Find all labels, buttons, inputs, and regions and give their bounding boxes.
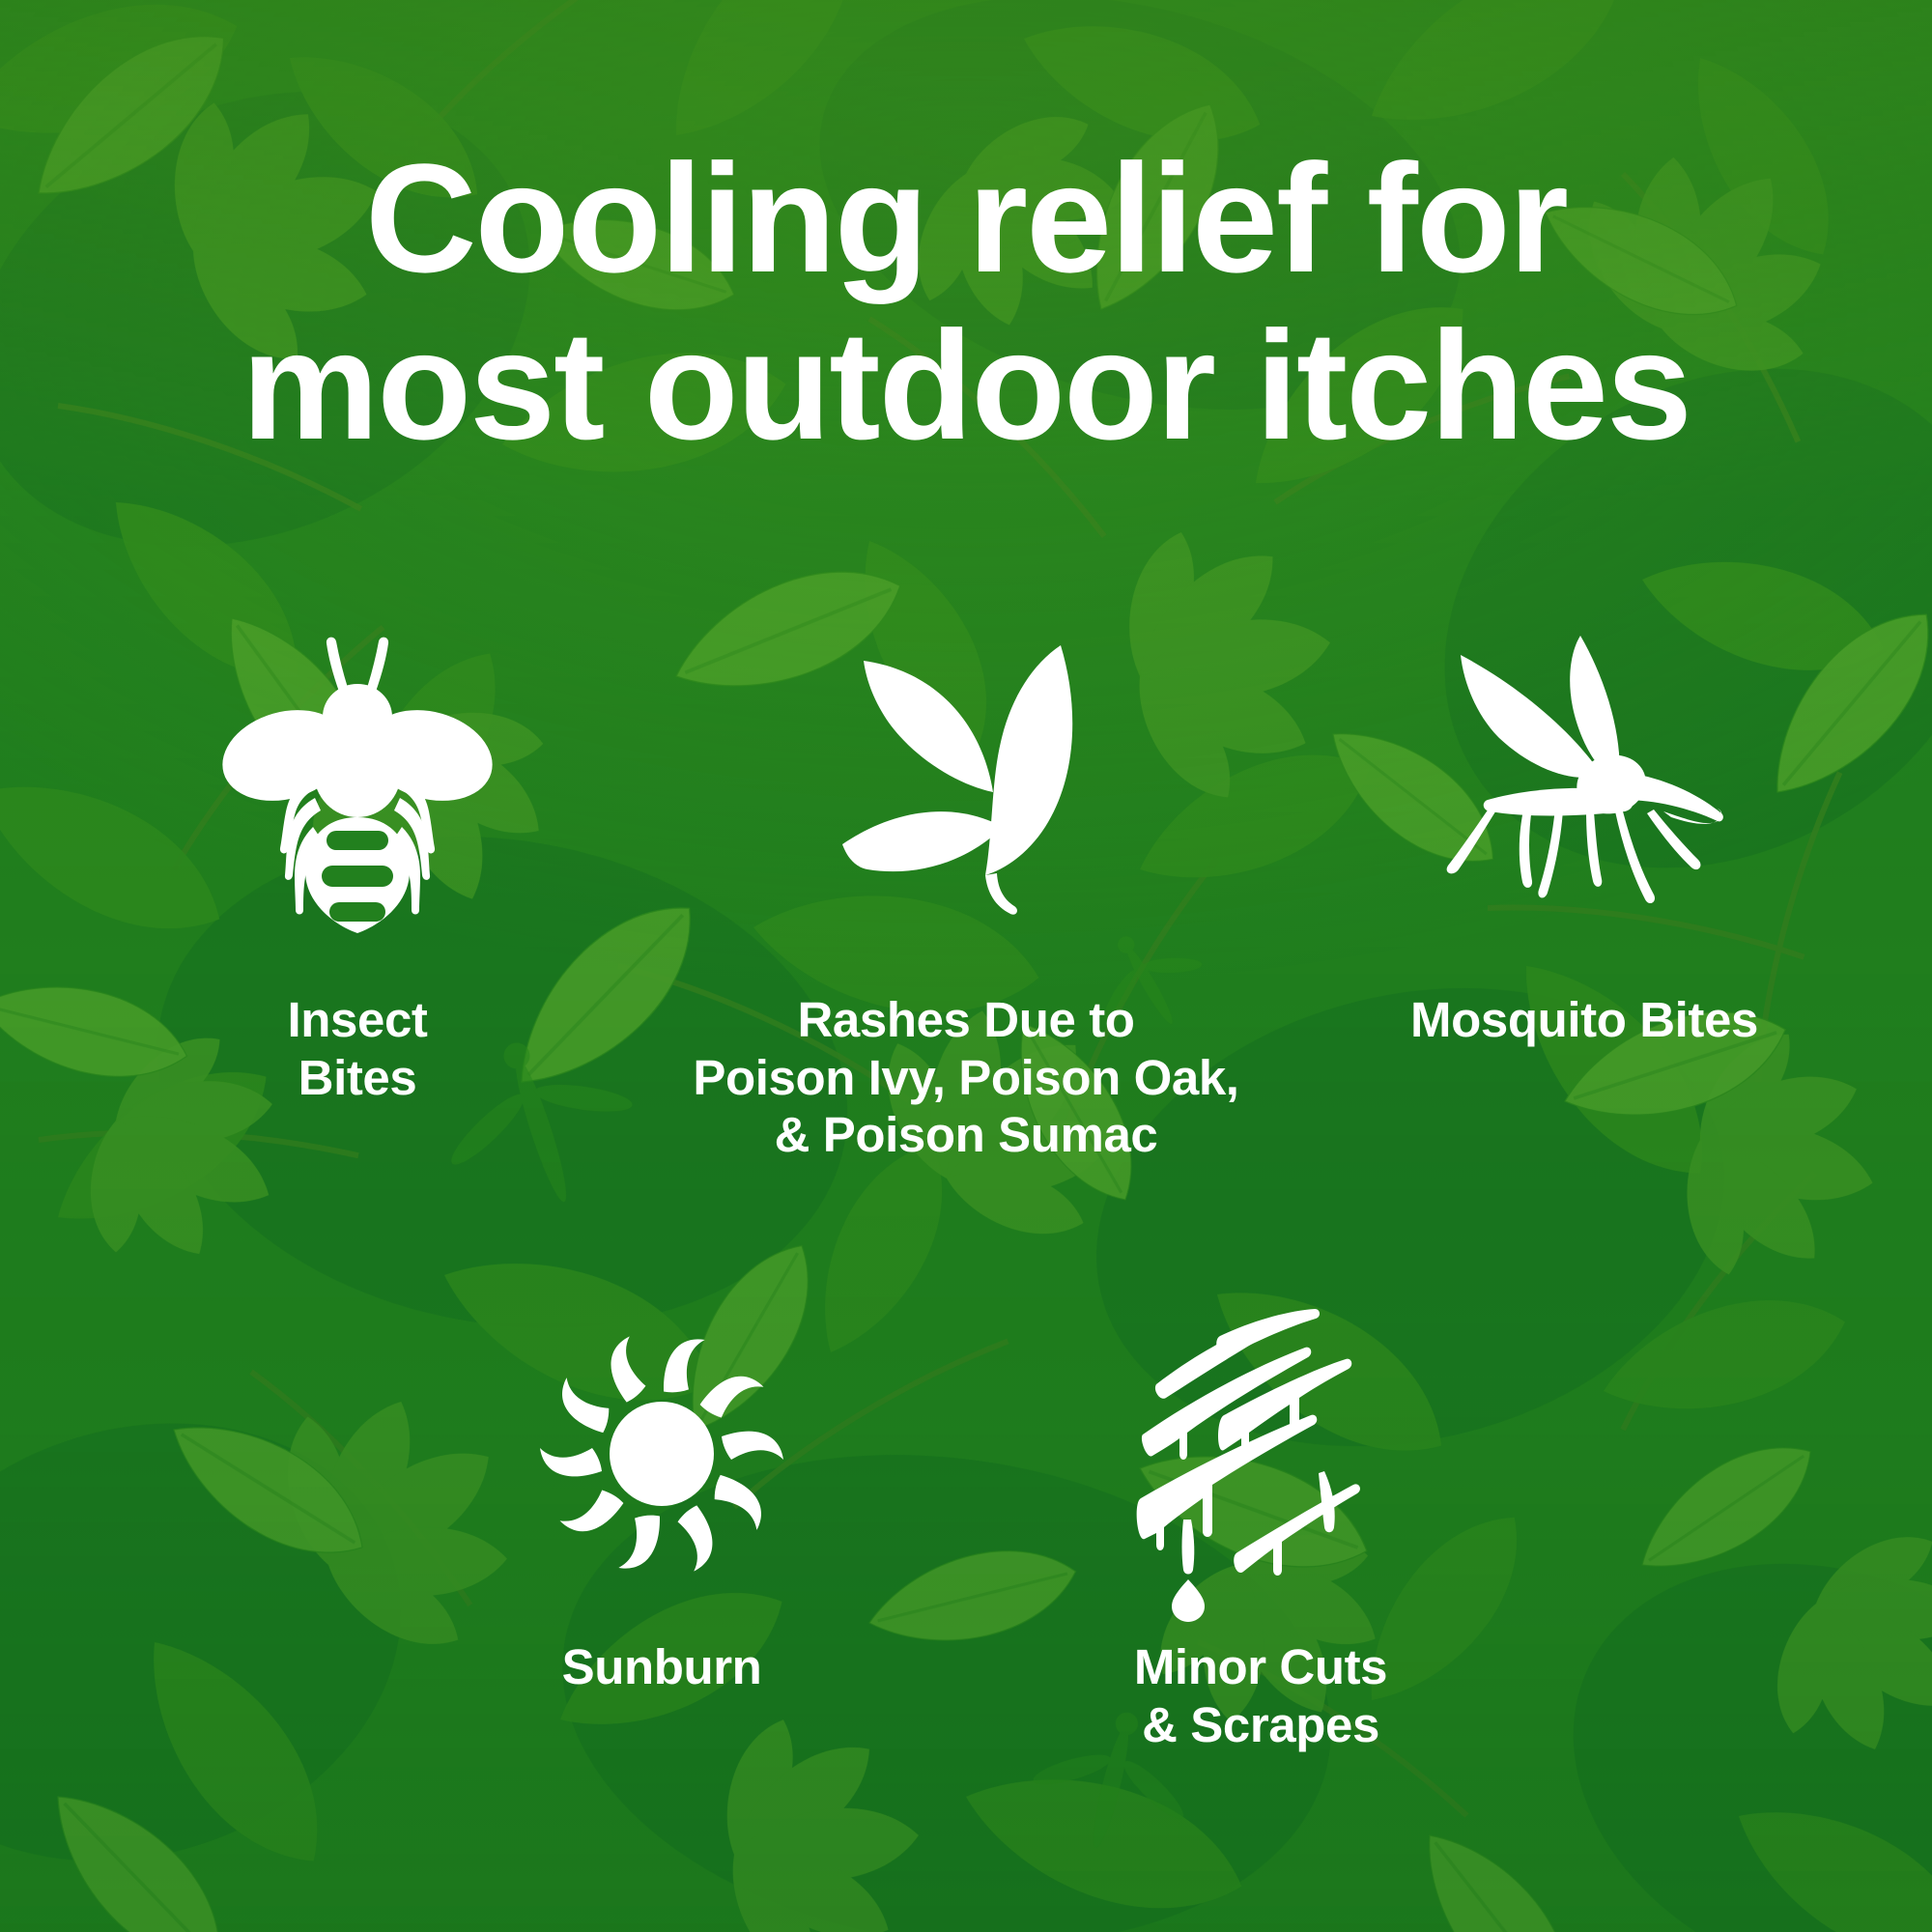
promo-graphic: Cooling relief for most outdoor itches — [0, 0, 1932, 1932]
scratch-marks-icon — [1135, 1309, 1386, 1599]
poison-ivy-leaves-icon — [840, 638, 1092, 927]
page-title: Cooling relief for most outdoor itches — [77, 135, 1855, 469]
label-line: Insect — [288, 991, 428, 1049]
label-line: Sunburn — [562, 1638, 762, 1696]
benefit-label-minor-cuts-scrapes: Minor Cuts & Scrapes — [1134, 1638, 1387, 1753]
benefit-sunburn: Sunburn — [406, 1294, 918, 1696]
benefit-mosquito-bites: Mosquito Bites — [1275, 599, 1893, 1049]
benefits-row-top: Insect Bites — [0, 599, 1932, 1275]
benefit-rashes: Rashes Due to Poison Ivy, Poison Oak, & … — [657, 599, 1275, 1164]
scratch-marks-icon-wrapper — [1135, 1294, 1386, 1613]
benefit-label-rashes: Rashes Due to Poison Ivy, Poison Oak, & … — [693, 991, 1238, 1164]
label-line: & Scrapes — [1134, 1696, 1387, 1754]
mosquito-icon-wrapper — [1439, 599, 1729, 966]
headline-line-2: most outdoor itches — [77, 302, 1855, 469]
benefits-row-bottom: Sunburn — [0, 1294, 1932, 1874]
sun-icon — [536, 1328, 787, 1579]
label-line: Poison Ivy, Poison Oak, — [693, 1049, 1238, 1107]
benefit-label-sunburn: Sunburn — [562, 1638, 762, 1696]
benefit-label-insect-bites: Insect Bites — [288, 991, 428, 1106]
benefit-minor-cuts-scrapes: Minor Cuts & Scrapes — [1005, 1294, 1517, 1753]
benefit-insect-bites: Insect Bites — [58, 599, 657, 1106]
label-line: Minor Cuts — [1134, 1638, 1387, 1696]
bee-icon-wrapper — [213, 599, 502, 966]
label-line: Mosquito Bites — [1410, 991, 1758, 1049]
benefit-label-mosquito-bites: Mosquito Bites — [1410, 991, 1758, 1049]
sun-icon-wrapper — [536, 1294, 787, 1613]
mosquito-icon — [1439, 628, 1729, 937]
label-line: Rashes Due to — [693, 991, 1238, 1049]
poison-ivy-leaves-icon-wrapper — [840, 599, 1092, 966]
headline-line-1: Cooling relief for — [77, 135, 1855, 302]
label-line: & Poison Sumac — [693, 1106, 1238, 1164]
label-line: Bites — [288, 1049, 428, 1107]
bee-icon — [213, 628, 502, 937]
